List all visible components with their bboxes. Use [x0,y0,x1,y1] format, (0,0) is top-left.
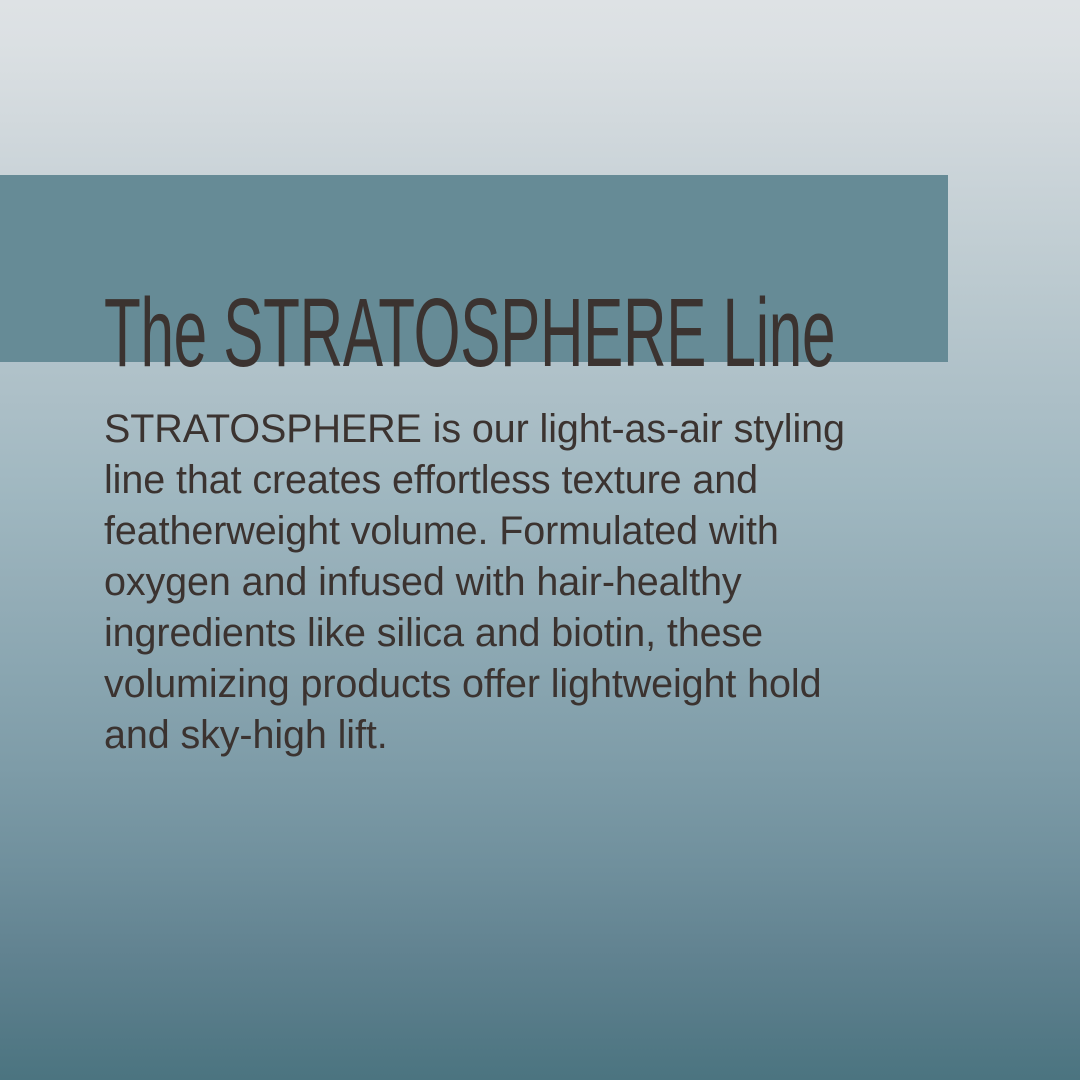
paragraph-line: oxygen and infused with hair-healthy [104,557,934,608]
paragraph-line: featherweight volume. Formulated with [104,506,934,557]
paragraph-line: STRATOSPHERE is our light-as-air styling [104,404,934,455]
description-paragraph: STRATOSPHERE is our light-as-air styling… [104,404,934,761]
marketing-poster: The STRATOSPHERE Line STRATOSPHERE is ou… [0,0,1080,1080]
paragraph-line: volumizing products offer lightweight ho… [104,659,934,710]
paragraph-line: line that creates effortless texture and [104,455,934,506]
paragraph-line: ingredients like silica and biotin, thes… [104,608,934,659]
page-title: The STRATOSPHERE Line [104,240,638,427]
paragraph-line: and sky-high lift. [104,710,934,761]
